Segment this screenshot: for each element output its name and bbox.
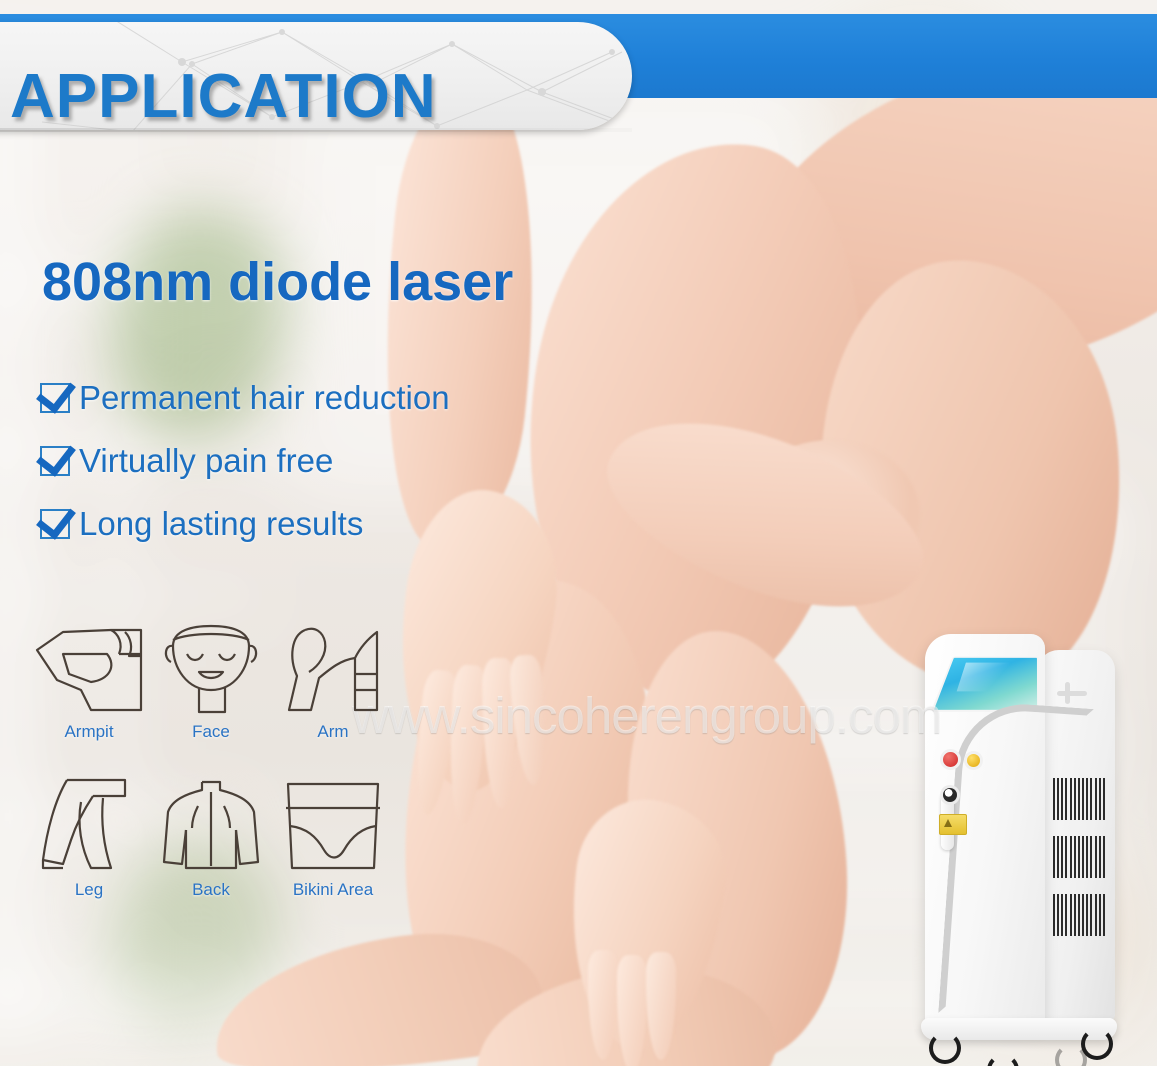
- treatment-area-label: Leg: [28, 880, 150, 900]
- header-banner: APPLICATION: [0, 22, 632, 130]
- benefit-label: Permanent hair reduction: [79, 379, 450, 417]
- site-watermark: www.sincoherengroup.com: [352, 686, 941, 745]
- leg-icon: [28, 778, 150, 874]
- handpiece-hook-icon: [1057, 682, 1087, 704]
- product-headline: 808nm diode laser: [42, 251, 513, 313]
- face-icon: [150, 620, 272, 716]
- handpiece-cable: [938, 700, 1094, 1023]
- treatment-area-label: Bikini Area: [272, 880, 394, 900]
- benefit-label: Virtually pain free: [79, 442, 333, 480]
- connector-port: [943, 788, 957, 802]
- key-switch[interactable]: [967, 754, 980, 767]
- checkbox-checked-icon: [40, 383, 70, 413]
- benefit-item: Virtually pain free: [40, 429, 450, 492]
- banner-shadow-edge: [0, 128, 632, 132]
- benefit-item: Long lasting results: [40, 492, 450, 555]
- page-title: APPLICATION: [10, 66, 437, 128]
- treatment-area-bikini: Bikini Area: [272, 778, 394, 900]
- checkbox-checked-icon: [40, 446, 70, 476]
- treatment-area-back: Back: [150, 778, 272, 900]
- arm-icon: [272, 620, 394, 716]
- benefit-item: Permanent hair reduction: [40, 366, 450, 429]
- treatment-area-armpit: Armpit: [28, 620, 150, 742]
- bottom-white-strip: [0, 1066, 1157, 1077]
- treatment-area-label: Face: [150, 722, 272, 742]
- treatment-areas-grid: Armpit Face: [28, 620, 408, 900]
- treatment-area-label: Back: [150, 880, 272, 900]
- armpit-icon: [28, 620, 150, 716]
- caster-wheel: [929, 1032, 961, 1064]
- emergency-stop-button[interactable]: [943, 752, 958, 767]
- laser-warning-label: [939, 814, 967, 835]
- treatment-area-arm: Arm: [272, 620, 394, 742]
- benefits-list: Permanent hair reduction Virtually pain …: [40, 366, 450, 555]
- treatment-areas-row: Armpit Face: [28, 620, 408, 742]
- treatment-area-face: Face: [150, 620, 272, 742]
- treatment-area-label: Arm: [272, 722, 394, 742]
- bikini-area-icon: [272, 778, 394, 874]
- checkbox-checked-icon: [40, 509, 70, 539]
- treatment-area-leg: Leg: [28, 778, 150, 900]
- treatment-area-label: Armpit: [28, 722, 150, 742]
- benefit-label: Long lasting results: [79, 505, 363, 543]
- treatment-areas-row: Leg Back: [28, 778, 408, 900]
- back-icon: [150, 778, 272, 874]
- application-banner-image: www.sincoherengroup.com APPLICATION 808n…: [0, 0, 1157, 1077]
